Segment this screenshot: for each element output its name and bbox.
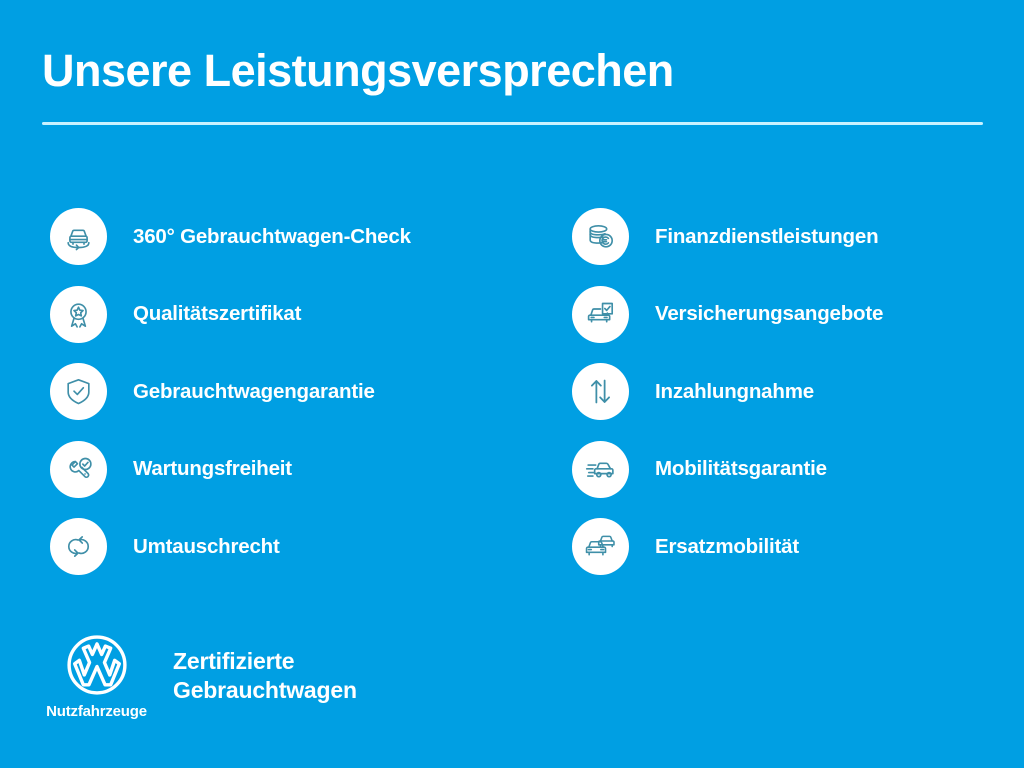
promise-label: Inzahlungnahme [655, 380, 814, 404]
title-block: Unsere Leistungsversprechen [42, 48, 984, 125]
brand-mark: Nutzfahrzeuge [44, 634, 149, 720]
brand-tagline: Zertifizierte Gebrauchtwagen [173, 647, 357, 706]
promise-label: Qualitätszertifikat [133, 302, 301, 326]
coins-euro-icon [572, 208, 629, 265]
promise-label: Umtauschrecht [133, 535, 280, 559]
promise-item-umtauschrecht[interactable]: Umtauschrecht [50, 508, 520, 586]
page-title: Unsere Leistungsversprechen [42, 48, 984, 93]
promises-left-column: 360° Gebrauchtwagen-Check Qualitätszerti… [50, 198, 520, 586]
promise-label: Ersatzmobilität [655, 535, 799, 559]
promise-item-gebrauchtwagengarantie[interactable]: Gebrauchtwagengarantie [50, 353, 520, 431]
promise-item-inzahlungnahme[interactable]: Inzahlungnahme [572, 353, 992, 431]
promise-item-wartungsfreiheit[interactable]: Wartungsfreiheit [50, 431, 520, 509]
brand-tagline-line1: Zertifizierte [173, 647, 357, 676]
promise-label: 360° Gebrauchtwagen-Check [133, 225, 411, 249]
promise-item-finanzdienstleistungen[interactable]: Finanzdienstleistungen [572, 198, 992, 276]
promise-label: Mobilitätsgarantie [655, 457, 827, 481]
car-document-check-icon [572, 286, 629, 343]
brand-subtitle: Nutzfahrzeuge [46, 703, 147, 720]
two-cars-icon [572, 518, 629, 575]
promise-item-qualitaetszertifikat[interactable]: Qualitätszertifikat [50, 276, 520, 354]
promise-item-mobilitaetsgarantie[interactable]: Mobilitätsgarantie [572, 431, 992, 509]
promises-right-column: Finanzdienstleistungen Versicherungsange… [572, 198, 992, 586]
volkswagen-logo [66, 634, 128, 696]
wrench-check-icon [50, 441, 107, 498]
promise-item-ersatzmobilitaet[interactable]: Ersatzmobilität [572, 508, 992, 586]
promise-item-gebrauchtwagen-check[interactable]: 360° Gebrauchtwagen-Check [50, 198, 520, 276]
promise-label: Gebrauchtwagengarantie [133, 380, 375, 404]
brand-footer: Nutzfahrzeuge Zertifizierte Gebrauchtwag… [44, 634, 357, 720]
title-divider [42, 122, 983, 125]
shield-check-icon [50, 363, 107, 420]
brand-tagline-line2: Gebrauchtwagen [173, 676, 357, 705]
car-360-check-icon [50, 208, 107, 265]
promise-label: Finanzdienstleistungen [655, 225, 878, 249]
up-down-arrows-icon [572, 363, 629, 420]
slide-canvas: Unsere Leistungsversprechen 360° Gebrauc [0, 0, 1024, 768]
promise-item-versicherungsangebote[interactable]: Versicherungsangebote [572, 276, 992, 354]
promise-label: Wartungsfreiheit [133, 457, 292, 481]
promises-columns: 360° Gebrauchtwagen-Check Qualitätszerti… [0, 198, 1024, 586]
exchange-arrows-icon [50, 518, 107, 575]
award-rosette-icon [50, 286, 107, 343]
promise-label: Versicherungsangebote [655, 302, 883, 326]
car-speed-icon [572, 441, 629, 498]
